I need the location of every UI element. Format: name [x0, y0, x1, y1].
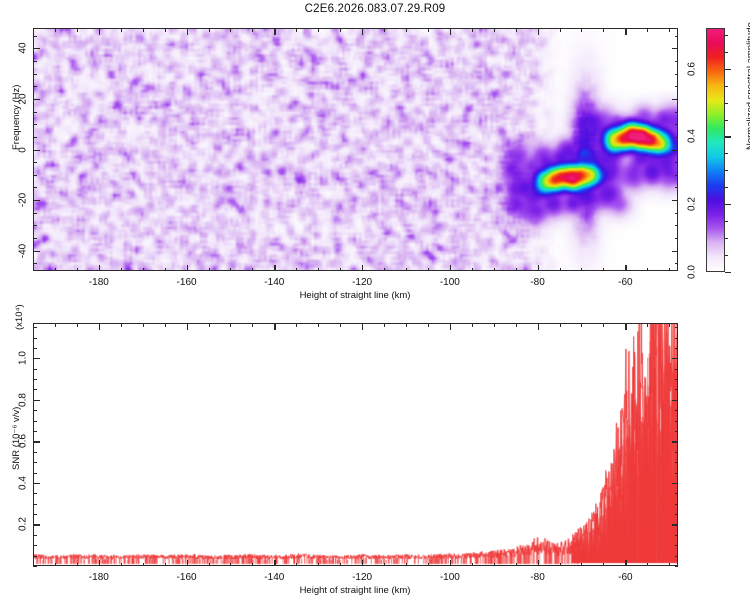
x-tick-label: -180 — [89, 277, 109, 288]
snr-y-axis-multiplier: (x10⁴) — [14, 304, 25, 330]
y-tick-label: 1.0 — [18, 348, 29, 368]
y-tick-label: -40 — [18, 241, 29, 261]
x-tick-label: -160 — [177, 277, 197, 288]
x-tick-label: -140 — [264, 572, 284, 583]
colorbar-tick-label: 0.0 — [687, 262, 698, 282]
x-tick-label: -60 — [618, 572, 632, 583]
colorbar-title: Normalized spectral amplitude — [745, 22, 750, 150]
x-tick-label: -120 — [352, 277, 372, 288]
colorbar-gradient — [707, 29, 724, 271]
figure-root: C2E6.2026.083.07.29.R09 -180-160-140-120… — [0, 0, 750, 600]
x-tick-label: -80 — [530, 572, 544, 583]
x-tick-label: -140 — [264, 277, 284, 288]
x-tick-label: -100 — [440, 572, 460, 583]
y-tick-label: 0.2 — [18, 514, 29, 534]
snr-x-axis-title: Height of straight line (km) — [300, 585, 411, 596]
x-tick-label: -80 — [530, 277, 544, 288]
snr-panel — [33, 323, 678, 566]
x-tick-label: -60 — [618, 277, 632, 288]
colorbar-tick-label: 0.4 — [687, 126, 698, 146]
y-tick-label: -20 — [18, 190, 29, 210]
colorbar-tick-label: 0.2 — [687, 194, 698, 214]
x-tick-label: -160 — [177, 572, 197, 583]
spectrogram-x-axis-title: Height of straight line (km) — [300, 290, 411, 301]
snr-canvas — [34, 324, 677, 565]
colorbar-tick-label: 0.6 — [687, 59, 698, 79]
x-tick-label: -100 — [440, 277, 460, 288]
spectrogram-panel — [33, 28, 678, 271]
x-tick-label: -180 — [89, 572, 109, 583]
spectrogram-canvas — [34, 29, 677, 270]
spectrogram-y-axis-title: Frequency (Hz) — [11, 85, 22, 150]
colorbar — [706, 28, 725, 272]
snr-y-axis-title: SNR (10⁻⁶ v/v) — [11, 407, 22, 470]
y-tick-label: 0.4 — [18, 473, 29, 493]
page-title: C2E6.2026.083.07.29.R09 — [0, 3, 750, 15]
x-tick-label: -120 — [352, 572, 372, 583]
y-tick-label: 40 — [18, 38, 29, 58]
